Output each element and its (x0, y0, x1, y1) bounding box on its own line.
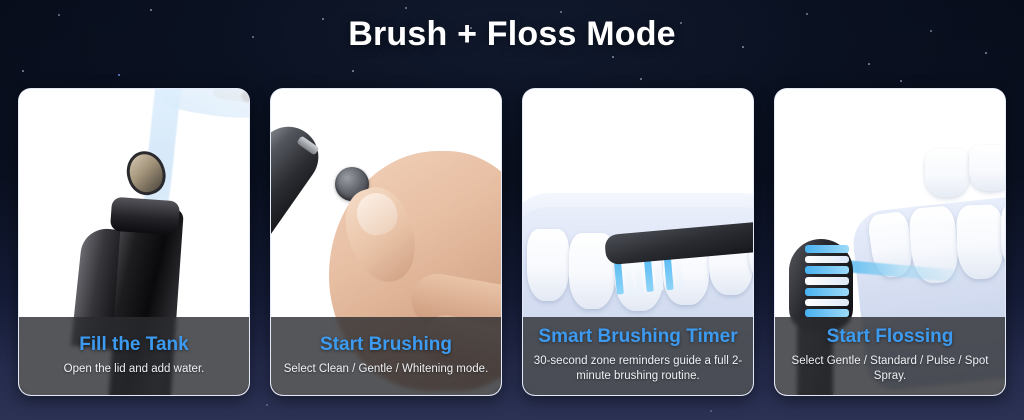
card-description: 30-second zone reminders guide a full 2-… (531, 354, 745, 385)
flosser-bristles (805, 245, 849, 317)
step-card-start-brushing[interactable]: Start Brushing Select Clean / Gentle / W… (270, 88, 502, 396)
card-heading: Start Brushing (320, 335, 452, 356)
card-description: Select Gentle / Standard / Pulse / Spot … (783, 354, 997, 385)
card-heading: Smart Brushing Timer (538, 327, 737, 348)
tooth (956, 204, 1005, 280)
card-caption: Start Flossing Select Gentle / Standard … (775, 317, 1005, 395)
card-caption: Fill the Tank Open the lid and add water… (19, 317, 249, 395)
flosser-tank-collar (110, 197, 180, 236)
step-card-smart-brushing-timer[interactable]: Smart Brushing Timer 30-second zone remi… (522, 88, 754, 396)
poster-root: Brush + Floss Mode Fill the Tank Open th… (0, 0, 1024, 420)
card-caption: Smart Brushing Timer 30-second zone remi… (523, 317, 753, 395)
tooth (527, 229, 569, 301)
step-card-start-flossing[interactable]: Start Flossing Select Gentle / Standard … (774, 88, 1006, 396)
page-title: Brush + Floss Mode (0, 15, 1024, 54)
card-heading: Start Flossing (827, 327, 954, 348)
step-card-fill-the-tank[interactable]: Fill the Tank Open the lid and add water… (18, 88, 250, 396)
card-heading: Fill the Tank (79, 335, 188, 356)
tooth (969, 145, 1005, 191)
tooth (925, 149, 969, 197)
card-caption: Start Brushing Select Clean / Gentle / W… (271, 317, 501, 395)
card-description: Open the lid and add water. (64, 362, 205, 378)
card-description: Select Clean / Gentle / Whitening mode. (284, 362, 489, 378)
step-card-list: Fill the Tank Open the lid and add water… (18, 88, 1006, 396)
